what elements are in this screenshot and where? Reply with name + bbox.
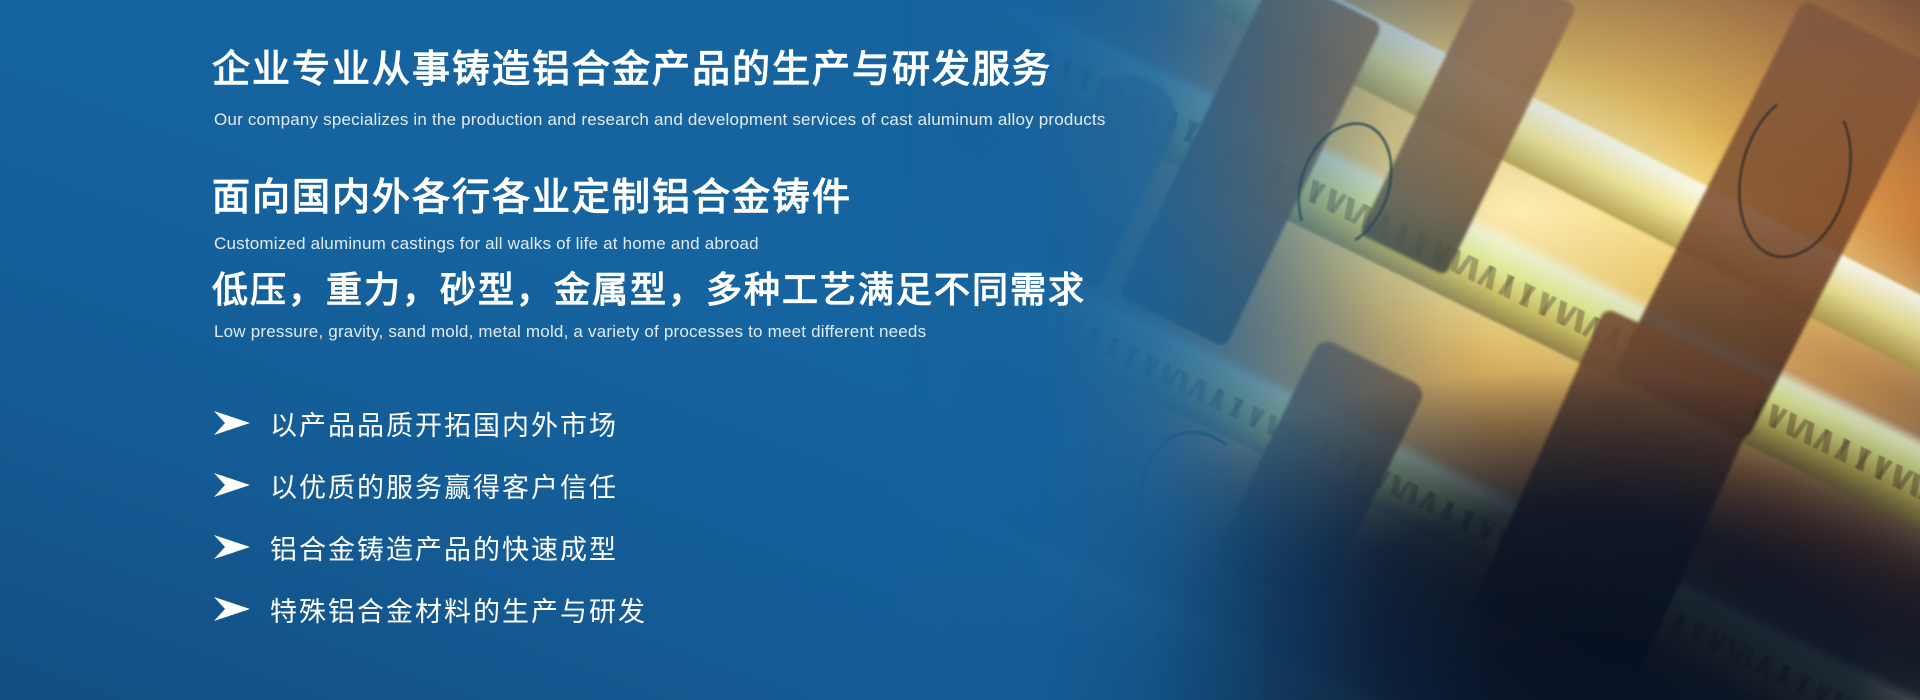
headline-tertiary-en: Low pressure, gravity, sand mold, metal … — [214, 322, 926, 342]
list-item: 以优质的服务赢得客户信任 — [212, 454, 972, 516]
list-item: 铝合金铸造产品的快速成型 — [212, 516, 972, 578]
list-item: 特殊铝合金材料的生产与研发 — [212, 578, 972, 640]
list-item: 以产品品质开拓国内外市场 — [212, 392, 972, 454]
headline-secondary-cn: 面向国内外各行各业定制铝合金铸件 — [212, 176, 852, 222]
arrow-right-icon — [212, 534, 252, 560]
headline-tertiary-cn: 低压，重力，砂型，金属型，多种工艺满足不同需求 — [212, 268, 1086, 311]
list-item-label: 铝合金铸造产品的快速成型 — [270, 528, 618, 567]
list-item-label: 以优质的服务赢得客户信任 — [270, 466, 618, 505]
headline-primary-en: Our company specializes in the productio… — [214, 110, 1106, 130]
feature-bullet-list: 以产品品质开拓国内外市场 以优质的服务赢得客户信任 铝合金铸造产品的快速成型 特… — [212, 392, 972, 640]
list-item-label: 特殊铝合金材料的生产与研发 — [270, 590, 647, 629]
headline-secondary-en: Customized aluminum castings for all wal… — [214, 234, 759, 254]
arrow-right-icon — [212, 410, 252, 436]
hero-banner: 企业专业从事铸造铝合金产品的生产与研发服务 Our company specia… — [0, 0, 1920, 700]
headline-primary-cn: 企业专业从事铸造铝合金产品的生产与研发服务 — [212, 48, 1052, 94]
banner-content: 企业专业从事铸造铝合金产品的生产与研发服务 Our company specia… — [212, 0, 1392, 700]
arrow-right-icon — [212, 472, 252, 498]
list-item-label: 以产品品质开拓国内外市场 — [270, 404, 618, 443]
arrow-right-icon — [212, 596, 252, 622]
